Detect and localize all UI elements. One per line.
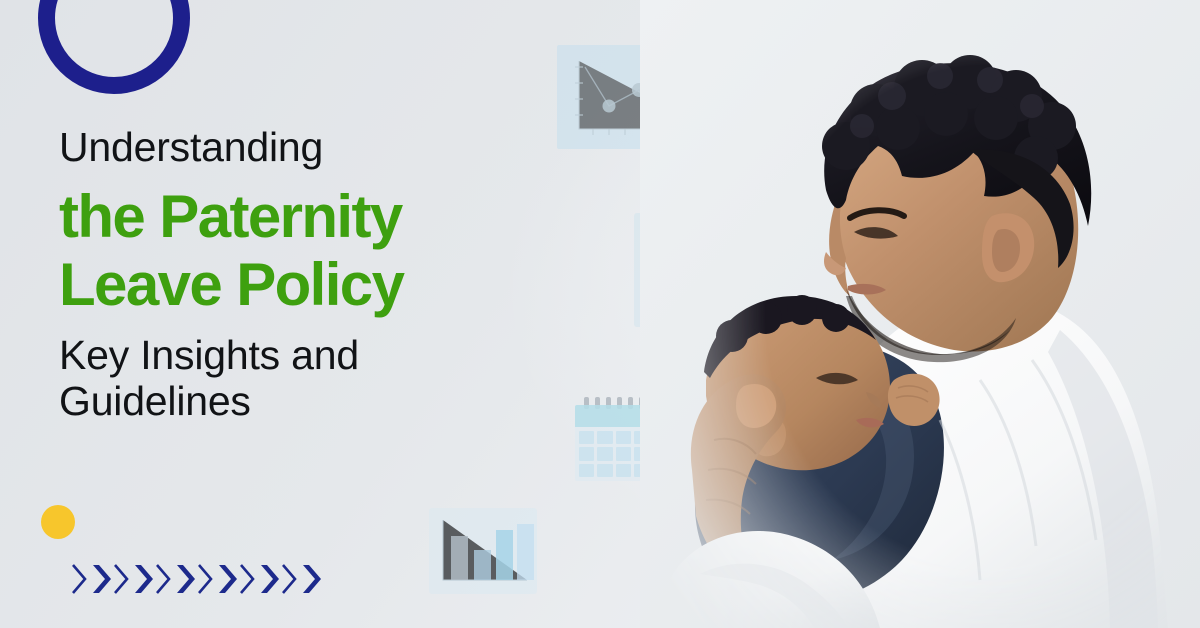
headline-text: the Paternity Leave Policy: [59, 183, 579, 317]
chevron-outline-icon: [112, 562, 132, 596]
navy-ring-icon: [38, 0, 190, 94]
photo-man-holding-baby: [640, 0, 1200, 628]
banner: Understanding the Paternity Leave Policy…: [0, 0, 1200, 628]
chevron-filled-icon: [301, 562, 321, 596]
yellow-dot-icon: [41, 505, 75, 539]
headline-line-2: Leave Policy: [59, 251, 579, 318]
subheadline-text: Key Insights and Guidelines: [59, 332, 579, 425]
photo-illustration: [640, 0, 1200, 628]
subheadline-line-1: Key Insights and: [59, 332, 579, 378]
chevron-outline-icon: [238, 562, 258, 596]
chevron-filled-icon: [217, 562, 237, 596]
chevron-outline-icon: [154, 562, 174, 596]
chevron-filled-icon: [133, 562, 153, 596]
headline-line-1: the Paternity: [59, 183, 579, 250]
subheadline-line-2: Guidelines: [59, 378, 579, 424]
chevron-outline-icon: [196, 562, 216, 596]
bar-chart-icon: [429, 508, 537, 594]
chevron-filled-icon: [175, 562, 195, 596]
chevron-outline-icon: [70, 562, 90, 596]
chevron-strip: [70, 562, 321, 596]
bar-chart-card: [429, 508, 537, 594]
headline-block: Understanding the Paternity Leave Policy…: [59, 126, 579, 424]
kicker-text: Understanding: [59, 126, 579, 169]
chevron-outline-icon: [280, 562, 300, 596]
chevron-filled-icon: [259, 562, 279, 596]
chevron-filled-icon: [91, 562, 111, 596]
